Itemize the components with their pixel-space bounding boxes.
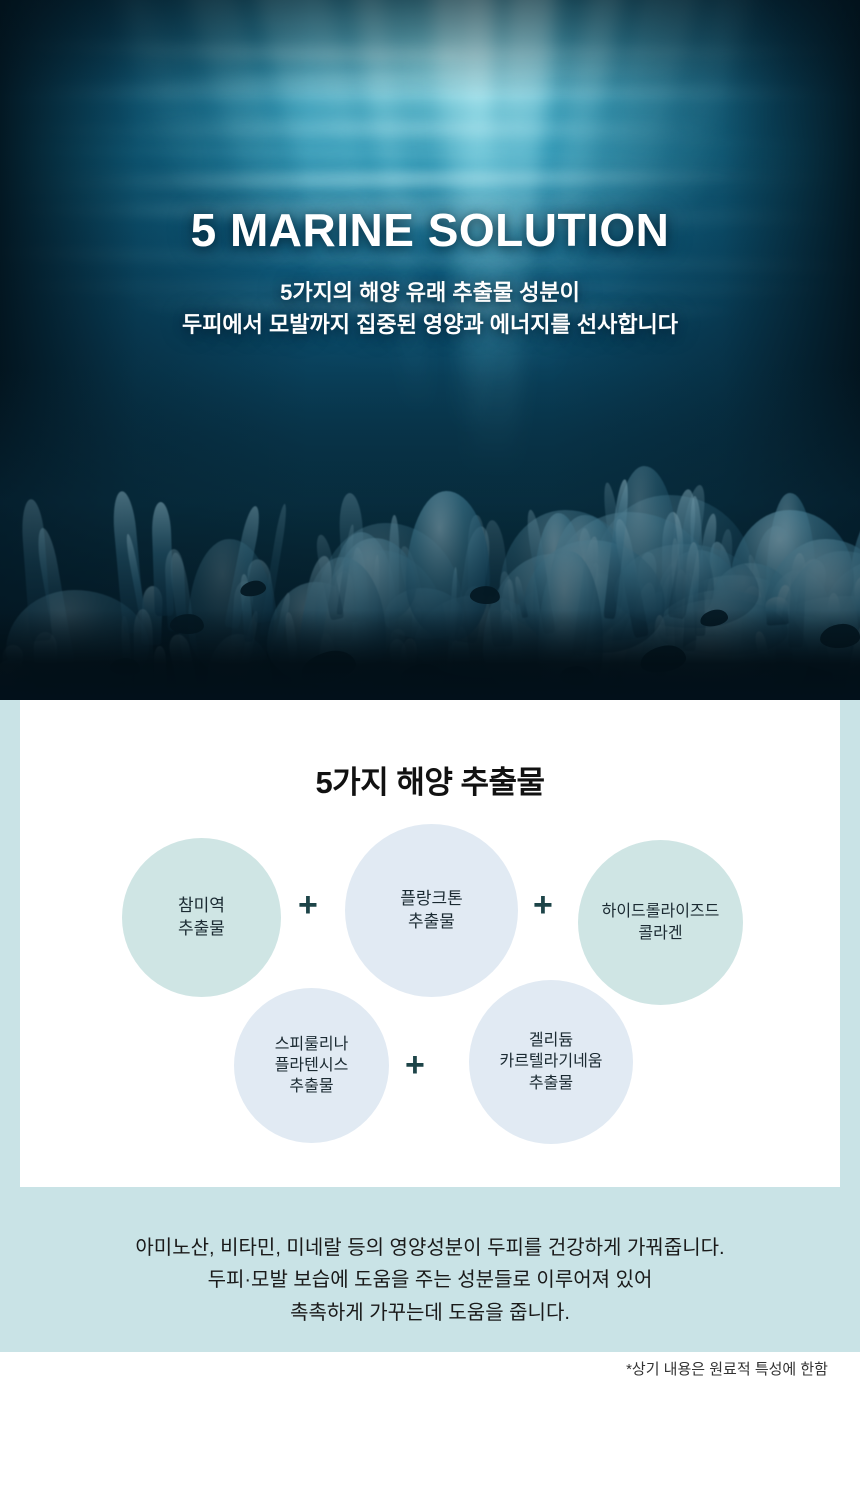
ingredient-label-line-2: 추출물 [178, 918, 225, 940]
ingredient-label-line-1: 플랑크톤 [400, 888, 463, 910]
ingredient-bubble-gelidium: 겔리듐 카르텔라기네움 추출물 [469, 980, 633, 1144]
hero-title: 5 MARINE SOLUTION [0, 206, 860, 255]
coral-reef [0, 370, 860, 700]
ingredients-title: 5가지 해양 추출물 [0, 757, 860, 802]
hero-subtitle-line-1: 5가지의 해양 유래 추출물 성분이 [0, 277, 860, 309]
hero-subtitle-line-2: 두피에서 모발까지 집중된 영양과 에너지를 선사합니다 [0, 309, 860, 341]
plus-icon-3: + [405, 1048, 425, 1082]
ingredient-label-line-1: 겔리듐 [499, 1030, 602, 1051]
benefit-line-3: 촉촉하게 가꾸는데 도움을 줍니다. [0, 1297, 860, 1329]
ingredient-bubble-plankton: 플랑크톤 추출물 [345, 824, 518, 997]
ingredient-label-line-3: 추출물 [499, 1073, 602, 1094]
ingredient-bubble-chammiyeok: 참미역 추출물 [122, 838, 281, 997]
ingredient-label-line-2: 플라텐시스 [275, 1055, 349, 1076]
footnote-text: *상기 내용은 원료적 특성에 한함 [626, 1358, 828, 1379]
ingredient-bubble-spirulina: 스피룰리나 플라텐시스 추출물 [234, 988, 389, 1143]
ingredient-bubble-hydrolyzed-collagen: 하이드롤라이즈드 콜라겐 [578, 840, 743, 1005]
ingredient-label-line-2: 카르텔라기네움 [499, 1051, 602, 1072]
ingredient-label-line-3: 추출물 [275, 1076, 349, 1097]
ingredient-label-line-1: 참미역 [178, 895, 225, 917]
product-detail-page: 5 MARINE SOLUTION 5가지의 해양 유래 추출물 성분이 두피에… [0, 0, 860, 1500]
plus-icon-1: + [298, 888, 318, 922]
hero-text-block: 5 MARINE SOLUTION 5가지의 해양 유래 추출물 성분이 두피에… [0, 206, 860, 341]
benefit-line-2: 두피·모발 보습에 도움을 주는 성분들로 이루어져 있어 [0, 1264, 860, 1296]
underwater-scene-image [0, 0, 860, 700]
hero-banner: 5 MARINE SOLUTION 5가지의 해양 유래 추출물 성분이 두피에… [0, 0, 860, 700]
reef-floor [0, 610, 860, 700]
hero-subtitle: 5가지의 해양 유래 추출물 성분이 두피에서 모발까지 집중된 영양과 에너지… [0, 277, 860, 341]
benefit-line-1: 아미노산, 비타민, 미네랄 등의 영양성분이 두피를 건강하게 가꿔줍니다. [0, 1232, 860, 1264]
plus-icon-2: + [533, 888, 553, 922]
ingredient-label-line-2: 콜라겐 [602, 923, 720, 944]
benefit-description: 아미노산, 비타민, 미네랄 등의 영양성분이 두피를 건강하게 가꿔줍니다. … [0, 1232, 860, 1329]
ingredient-label-line-2: 추출물 [400, 911, 463, 933]
ingredient-label-line-1: 하이드롤라이즈드 [602, 901, 720, 922]
ingredient-label-line-1: 스피룰리나 [275, 1034, 349, 1055]
